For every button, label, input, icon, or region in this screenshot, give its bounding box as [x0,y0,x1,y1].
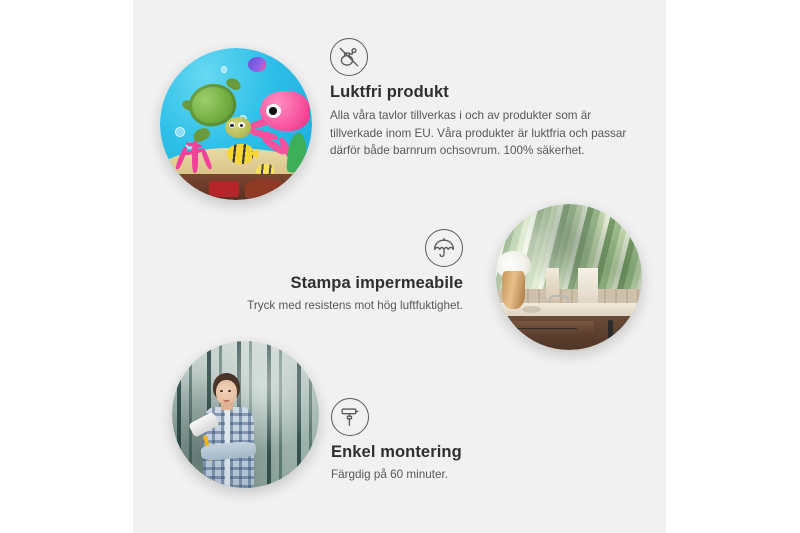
sea-floor-foreground [160,174,312,200]
painter-scene [172,341,319,488]
turtle-eye [238,122,245,128]
octopus-eye [266,104,281,118]
product-features-infographic: Luktfri produkt Alla våra tavlor tillver… [0,0,800,533]
eye [228,390,231,392]
vase [502,271,525,309]
product-image-underwater[interactable] [160,48,312,200]
smile [223,396,231,402]
eye [220,390,223,392]
feature-block-easy-install: Enkel montering Färgdig på 60 minuter. [331,398,621,484]
feature-title: Enkel montering [331,443,621,463]
product-image-painter[interactable] [172,341,319,488]
bubble-icon [221,66,228,73]
fish-illustration [248,57,266,72]
underwater-scene [160,48,312,200]
octopus-head [260,91,311,132]
wooden-vanity [496,316,642,350]
rolled-towel [578,268,598,306]
feature-body: Färgdig på 60 minuter. [331,467,621,484]
no-fragrance-icon [330,38,368,76]
fish-illustration [227,144,253,164]
feature-block-odourless: Luktfri produkt Alla våra tavlor tillver… [330,38,630,160]
turtle-eye [229,122,236,128]
feature-body: Tryck med resistens mot hög luftfuktighe… [180,298,463,315]
turtle-head [225,117,251,138]
feature-block-waterproof: Stampa impermeabile Tryck med resistens … [180,229,463,315]
paint-roller-icon [331,398,369,436]
bathroom-scene [496,204,642,350]
product-image-bathroom[interactable] [496,204,642,350]
neck [221,402,232,410]
vanity-drawer [500,321,595,334]
feature-title: Stampa impermeabile [180,274,463,294]
feature-title: Luktfri produkt [330,83,630,103]
umbrella-icon [425,229,463,267]
woman-illustration [187,370,275,488]
coral-illustration [172,130,218,173]
vanity-handle [608,320,614,342]
feature-body: Alla våra tavlor tillverkas i och av pro… [330,107,630,160]
